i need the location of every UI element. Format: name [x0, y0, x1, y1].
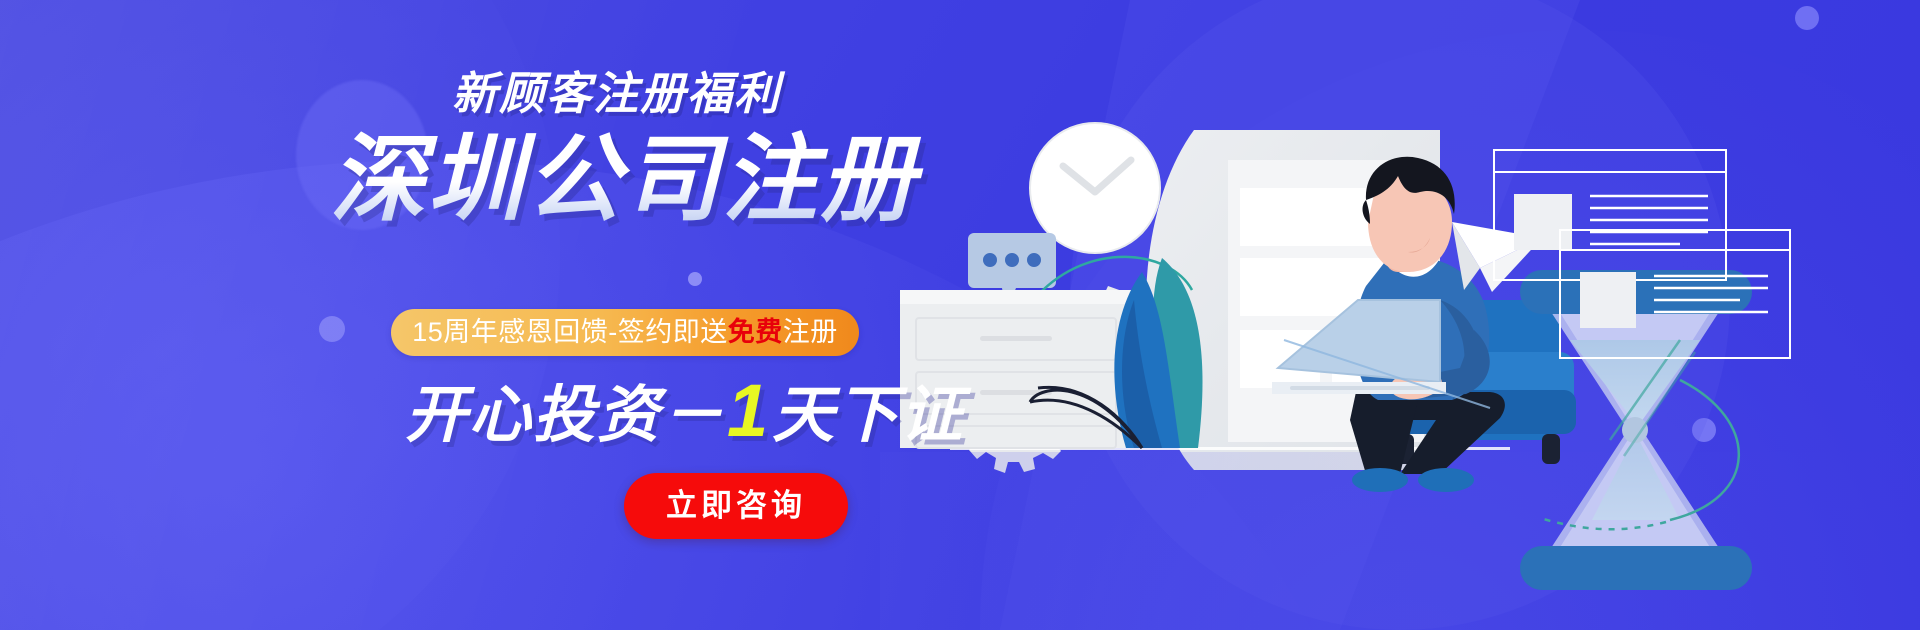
hourglass-cap-bottom: [1520, 546, 1752, 590]
badge-highlight: 免费: [728, 317, 783, 347]
tagline-suffix: 天下证: [772, 381, 964, 450]
tagline-number: 1: [725, 369, 772, 452]
badge-prefix: 15周年感恩回馈-签约即送: [412, 317, 728, 347]
promo-banner: 新顾客注册福利 深圳公司注册 15周年感恩回馈-签约即送免费注册 开心投资－1天…: [0, 0, 1920, 630]
consult-now-button[interactable]: 立即咨询: [624, 473, 848, 539]
tagline: 开心投资－1天下证: [405, 376, 965, 446]
promo-badge: 15周年感恩回馈-签约即送免费注册: [391, 309, 859, 356]
consult-now-label: 立即咨询: [666, 473, 806, 539]
promo-badge-text: 15周年感恩回馈-签约即送免费注册: [412, 309, 838, 356]
kicker-text: 新顾客注册福利: [452, 66, 852, 122]
page-title: 深圳公司注册: [330, 128, 950, 232]
tagline-prefix: 开心投资－: [405, 381, 725, 450]
copy-block: 新顾客注册福利 深圳公司注册 15周年感恩回馈-签约即送免费注册 开心投资－1天…: [0, 0, 1060, 630]
badge-suffix: 注册: [783, 317, 838, 347]
